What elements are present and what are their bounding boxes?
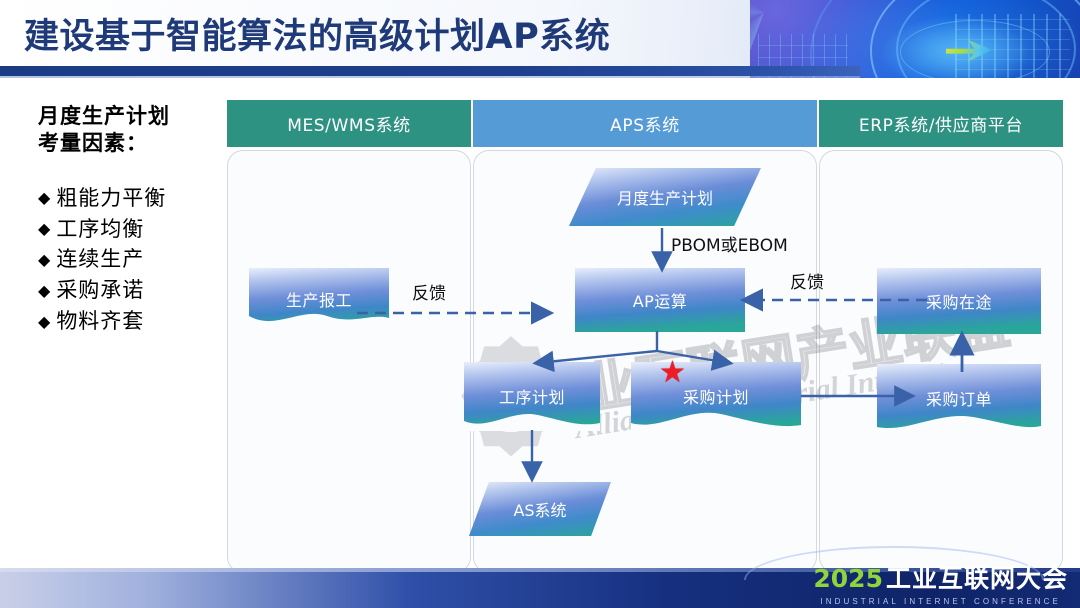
panel-mes-wms (227, 150, 471, 573)
node-purchase-order[interactable]: 采购订单 (877, 364, 1041, 432)
list-item: ◆ 粗能力平衡 (38, 183, 234, 214)
node-purchase-in-transit[interactable]: 采购在途 (877, 268, 1041, 334)
column-header-erp: ERP系统/供应商平台 (819, 100, 1063, 147)
edge-label-bom: PBOM或EBOM (671, 231, 788, 256)
node-purchase-plan[interactable]: 采购计划 (631, 362, 801, 430)
node-label: AP运算 (633, 288, 688, 312)
diamond-bullet-icon: ◆ (38, 283, 51, 299)
node-label: 采购在途 (926, 289, 992, 313)
node-process-plan[interactable]: 工序计划 (464, 362, 600, 430)
list-item-label: 连续生产 (56, 244, 144, 275)
aps-flow-diagram: MES/WMS系统 APS系统 ERP系统/供应商平台 工业互联网产业联盟 Al… (227, 100, 1063, 573)
column-header-mes-wms: MES/WMS系统 (227, 100, 471, 147)
panel-erp (819, 150, 1063, 573)
considerations-list: ◆ 粗能力平衡 ◆ 工序均衡 ◆ 连续生产 ◆ 采购承诺 ◆ 物料齐套 (38, 183, 234, 337)
list-item-label: 工序均衡 (56, 214, 144, 245)
edge-label-feedback-left: 反馈 (412, 279, 446, 304)
title-underline-rule (0, 66, 860, 76)
list-item-label: 粗能力平衡 (56, 183, 166, 214)
list-item-label: 采购承诺 (56, 275, 144, 306)
column-header-aps: APS系统 (473, 100, 817, 147)
considerations-sidebar: 月度生产计划 考量因素： ◆ 粗能力平衡 ◆ 工序均衡 ◆ 连续生产 ◆ 采购承… (38, 103, 234, 337)
list-item-label: 物料齐套 (56, 306, 144, 337)
node-ap-calculation[interactable]: AP运算 (575, 268, 745, 332)
sidebar-heading-line2: 考量因素： (38, 130, 234, 157)
wave-bottom-decoration (877, 407, 1041, 433)
list-item: ◆ 物料齐套 (38, 306, 234, 337)
slide-title-bar: 建设基于智能算法的高级计划AP系统 (0, 0, 1080, 78)
page-title: 建设基于智能算法的高级计划AP系统 (24, 8, 610, 59)
logo-year: 2025 (813, 564, 883, 593)
conference-logo: 2025 工业互联网大会 INDUSTRIAL INTERNET CONFERE… (813, 559, 1068, 606)
footer-bar: 2025 工业互联网大会 INDUSTRIAL INTERNET CONFERE… (0, 568, 1080, 608)
wave-bottom-decoration (464, 405, 600, 431)
wave-bottom-decoration (249, 305, 389, 331)
wave-bottom-decoration (631, 405, 801, 431)
diamond-bullet-icon: ◆ (38, 314, 51, 330)
list-item: ◆ 采购承诺 (38, 275, 234, 306)
diamond-bullet-icon: ◆ (38, 221, 51, 237)
highlight-star-icon: ★ (659, 358, 686, 388)
node-as-system[interactable]: AS系统 (469, 482, 611, 536)
edge-label-feedback-right: 反馈 (790, 268, 824, 293)
list-item: ◆ 工序均衡 (38, 214, 234, 245)
list-item: ◆ 连续生产 (38, 244, 234, 275)
logo-chinese: 工业互联网大会 (886, 559, 1068, 595)
node-production-report[interactable]: 生产报工 (249, 268, 389, 330)
node-monthly-production-plan[interactable]: 月度生产计划 (569, 168, 761, 226)
slide-canvas: 建设基于智能算法的高级计划AP系统 月度生产计划 考量因素： ◆ 粗能力平衡 ◆… (0, 0, 1080, 608)
sidebar-heading-line1: 月度生产计划 (38, 103, 234, 130)
diamond-bullet-icon: ◆ (38, 190, 51, 206)
diamond-bullet-icon: ◆ (38, 252, 51, 268)
logo-english: INDUSTRIAL INTERNET CONFERENCE (820, 597, 1061, 606)
